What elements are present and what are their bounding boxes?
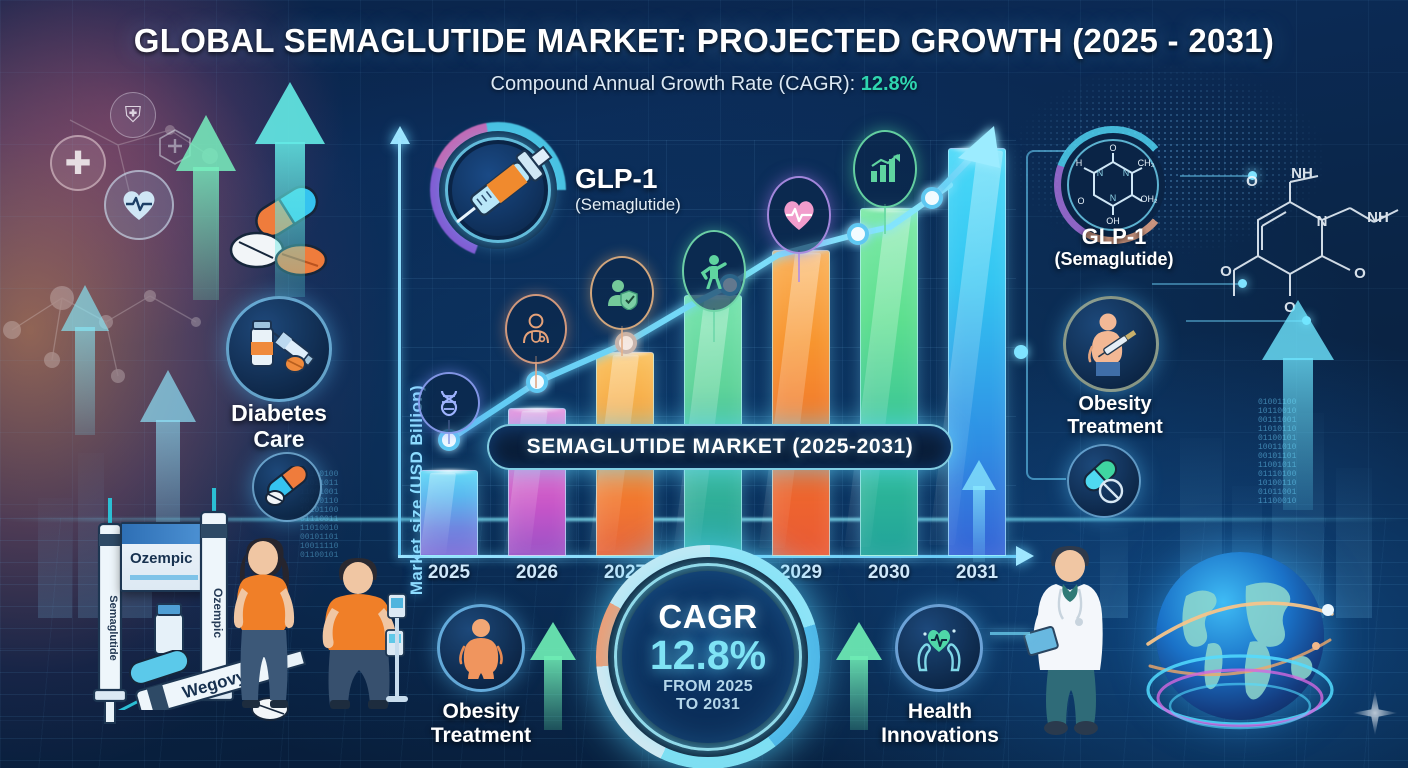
atom-OH2: OH₂ — [1141, 194, 1159, 204]
circuit-line-left-connector — [990, 632, 1030, 635]
growth-chart-icon — [867, 153, 903, 185]
health-innovations-badge — [895, 604, 983, 692]
growth-arrow-cyan-left-small — [60, 285, 110, 435]
diabetes-care-icon-badge — [226, 296, 332, 402]
glp1-right-label: GLP-1 (Semaglutide) — [1040, 225, 1188, 270]
atom-O-left: O — [1077, 196, 1084, 206]
health-innovations-label: Health Innovations — [862, 700, 1018, 748]
subtitle-cagr-value: 12.8% — [861, 73, 918, 95]
glp1-right-label-line2: (Semaglutide) — [1040, 249, 1188, 270]
page-title: GLOBAL SEMAGLUTIDE MARKET: PROJECTED GRO… — [0, 22, 1408, 60]
callout-pin-heart — [767, 176, 831, 280]
patient-shield-icon — [605, 276, 639, 310]
medical-cross-icon: ✚ — [65, 147, 92, 179]
globe-continents — [1182, 582, 1312, 699]
world-atom-O1: O — [1246, 173, 1258, 190]
doctor-tablet-figure — [1018, 540, 1128, 740]
atom-CH3: CH₃ — [1138, 158, 1155, 168]
obesity-treatment-right-badge — [1063, 296, 1159, 392]
growth-chart-icon-bubble — [853, 130, 917, 208]
world-atom-N: N — [1317, 213, 1328, 230]
growth-arrow-cyan-left-small-2 — [140, 370, 196, 545]
patient-woman-figure — [218, 528, 310, 708]
obese-person-icon — [454, 617, 508, 679]
capsule-pill-icon — [263, 466, 311, 508]
callout-pin-dna — [418, 372, 480, 444]
orbit-node-1 — [1322, 604, 1334, 616]
circuit-node-4 — [1014, 345, 1028, 359]
glp1-right-label-line1: GLP-1 — [1040, 225, 1188, 249]
trend-node-2030 — [923, 189, 941, 207]
world-atom-O2: O — [1354, 265, 1366, 282]
growth-arrow-cyan-left — [255, 82, 325, 297]
atom-N3: N — [1110, 193, 1117, 203]
atom-N1: N — [1097, 168, 1104, 178]
vial-syringe-icon — [243, 316, 315, 382]
growth-arrow-green-bottom-2 — [836, 622, 882, 730]
iv-stand-icon — [384, 590, 410, 710]
growth-arrow-green-left — [176, 115, 236, 300]
orbit-node-2 — [1312, 642, 1320, 650]
xtick-2026: 2026 — [492, 562, 582, 584]
capsule-pill-badge — [252, 452, 322, 522]
shield-icon: ⛨ — [125, 102, 142, 128]
subtitle-prefix: Compound Annual Growth Rate (CAGR): — [491, 73, 861, 95]
callout-pin-growth-chart — [853, 130, 917, 230]
glp1-chart-label-line1: GLP-1 — [575, 164, 681, 193]
fitness-icon-bubble — [682, 230, 746, 312]
heart-pulse-icon-bubble — [767, 176, 831, 254]
atom-N2: N — [1123, 168, 1130, 178]
chart-banner: SEMAGLUTIDE MARKET (2025-2031) — [487, 424, 953, 470]
globe-figure — [1142, 548, 1342, 748]
infographic-canvas: 0100110010110010001110011101011001100101… — [0, 0, 1408, 768]
cagr-from-line: FROM 2025 — [663, 678, 753, 696]
callout-pin-patient-shield — [590, 256, 654, 352]
medical-cross-badge: ✚ — [50, 135, 106, 191]
cagr-value: 12.8% — [650, 633, 766, 677]
world-atom-O3: O — [1220, 263, 1232, 280]
growth-arrow-cyan-right — [1262, 300, 1334, 510]
hands-heart-icon — [911, 622, 967, 674]
xtick-2031: 2031 — [932, 562, 1022, 584]
glp1-syringe-ring-badge — [430, 122, 566, 258]
growth-arrow-green-bottom — [530, 622, 576, 730]
cagr-face: CAGR 12.8% FROM 2025 TO 2031 — [622, 571, 794, 743]
atom-O-top: O — [1109, 143, 1116, 153]
world-atom-NH2: NH — [1367, 209, 1389, 226]
doctor-icon-bubble — [505, 294, 567, 364]
glp1-chart-label: GLP-1 (Semaglutide) — [575, 164, 681, 215]
world-atom-NH1: NH — [1291, 165, 1313, 182]
atom-H: H — [1076, 158, 1083, 168]
diabetes-care-label: Diabetes Care — [203, 400, 355, 452]
pill-no-symbol-badge — [1067, 444, 1141, 518]
patient-shield-icon-bubble — [590, 256, 654, 330]
doctor-icon — [520, 312, 552, 346]
obese-person-injection-icon — [1078, 311, 1144, 377]
cagr-dial: CAGR 12.8% FROM 2025 TO 2031 — [596, 545, 820, 768]
capsule-no-icon — [1079, 458, 1129, 504]
city-skyline-left — [38, 498, 72, 618]
obesity-treatment-bottom-badge — [437, 604, 525, 692]
dna-icon — [434, 388, 464, 418]
syringe-icon — [430, 122, 566, 258]
capsule-pill-loose — [126, 650, 192, 684]
callout-pin-fitness — [682, 230, 746, 338]
heart-pulse-icon — [119, 187, 159, 223]
glp1-chart-label-line2: (Semaglutide) — [575, 195, 681, 215]
fitness-icon — [696, 253, 732, 289]
growth-arrow-cyan-chart-right — [962, 460, 996, 562]
cagr-label: CAGR — [658, 600, 757, 633]
shield-badge: ⛨ — [110, 92, 156, 138]
callout-pin-doctor — [505, 294, 567, 382]
dna-icon-bubble — [418, 372, 480, 434]
xtick-2030: 2030 — [844, 562, 934, 584]
obesity-treatment-right-label: Obesity Treatment — [1040, 393, 1190, 439]
heart-pulse-badge — [104, 170, 174, 240]
xtick-2025: 2025 — [404, 562, 494, 584]
cagr-to-line: TO 2031 — [676, 696, 740, 714]
heart-pulse-icon — [780, 198, 818, 232]
orbit-ring-gold — [1148, 603, 1332, 644]
